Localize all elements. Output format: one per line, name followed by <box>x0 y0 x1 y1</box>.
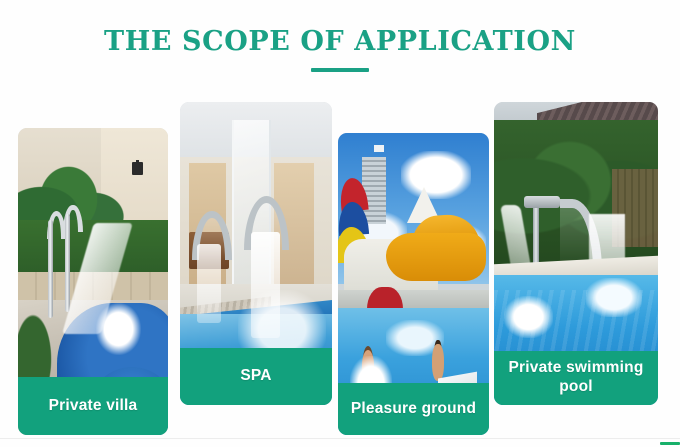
card-label-private-villa: Private villa <box>18 377 168 435</box>
card-label-pleasure-ground: Pleasure ground <box>338 383 489 435</box>
waterpark-orange-slide <box>386 233 486 281</box>
villa-lamp-post-icon <box>132 162 143 175</box>
card-label-private-swimming-pool: Private swimming pool <box>494 351 658 405</box>
title-underline-accent <box>311 68 369 72</box>
card-label-text-line2: pool <box>509 378 644 397</box>
private-pool-fountain-head <box>524 196 560 208</box>
spa-waterfall-left <box>197 244 221 323</box>
private-pool-foam <box>504 296 553 338</box>
card-label-spa: SPA <box>180 348 332 405</box>
application-scope-banner: THE SCOPE OF APPLICATION <box>0 0 680 447</box>
scope-card-private-villa[interactable]: Private villa <box>18 128 168 435</box>
scope-card-private-swimming-pool[interactable]: Private swimming pool <box>494 102 658 405</box>
card-label-text: Pleasure ground <box>351 400 476 419</box>
villa-fountain-pipe-right <box>65 214 70 312</box>
card-label-text-line1: Private swimming <box>509 359 644 378</box>
card-label-text: Private villa <box>49 397 138 416</box>
waterpark-flag-icon <box>374 145 384 152</box>
waterpark-slide-tower <box>362 157 386 223</box>
scope-card-spa[interactable]: SPA <box>180 102 332 405</box>
footer-divider <box>0 438 680 439</box>
private-pool-foam <box>586 278 642 317</box>
footer-accent-bar <box>660 442 680 445</box>
villa-fountain-pipe-left <box>48 220 53 318</box>
waterpark-swimmer <box>432 344 444 380</box>
page-title: THE SCOPE OF APPLICATION <box>0 28 680 56</box>
page-header: THE SCOPE OF APPLICATION <box>0 28 680 72</box>
scope-card-pleasure-ground[interactable]: Pleasure ground <box>338 133 489 435</box>
card-label-text: SPA <box>240 367 271 386</box>
villa-water-foam <box>96 303 141 355</box>
